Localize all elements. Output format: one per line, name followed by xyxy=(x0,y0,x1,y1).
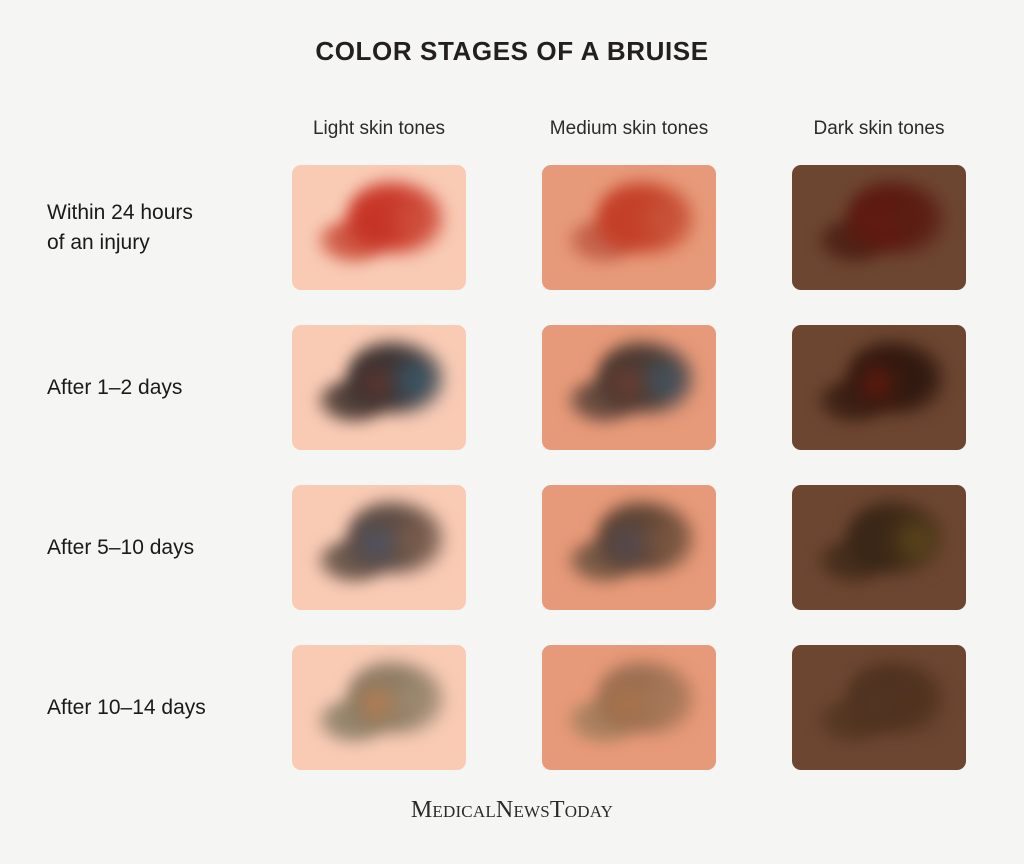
bruise-tile-medium xyxy=(542,325,716,450)
medical-news-today-logo: MedicalNewsToday xyxy=(411,797,613,824)
bruise-blob xyxy=(566,338,695,436)
row-label-after-10-14-days: After 10–14 days xyxy=(47,645,282,770)
bruise-tile-dark xyxy=(792,325,966,450)
stage-row: After 10–14 days xyxy=(0,645,1024,805)
infographic-root: COLOR STAGES OF A BRUISE Light skin tone… xyxy=(0,0,1024,864)
page-title: COLOR STAGES OF A BRUISE xyxy=(0,36,1024,67)
stage-row: After 5–10 days xyxy=(0,485,1024,645)
row-label-after-5-10-days: After 5–10 days xyxy=(47,485,282,610)
bruise-tile-medium xyxy=(542,645,716,770)
bruise-blob xyxy=(566,498,695,596)
bruise-tile-light xyxy=(292,325,466,450)
bruise-lobe xyxy=(855,207,899,240)
bruise-blob xyxy=(316,498,445,596)
row-label-line2: of an injury xyxy=(47,231,150,254)
row-label-within-24-hours: Within 24 hours of an injury xyxy=(47,165,282,290)
column-header-dark: Dark skin tones xyxy=(792,118,966,140)
bruise-tile-light xyxy=(292,485,466,610)
bruise-blob xyxy=(816,658,945,756)
bruise-lobe xyxy=(605,687,649,720)
column-header-medium: Medium skin tones xyxy=(542,118,716,140)
bruise-tile-dark xyxy=(792,165,966,290)
column-headers: Light skin tones Medium skin tones Dark … xyxy=(292,118,966,144)
bruise-lobe xyxy=(855,367,899,400)
footer: MedicalNewsToday xyxy=(0,797,1024,824)
row-label-line1: After 1–2 days xyxy=(47,373,182,403)
bruise-blob xyxy=(316,338,445,436)
bruise-blob xyxy=(316,658,445,756)
row-label-line1: Within 24 hours xyxy=(47,201,193,224)
bruise-tile-dark xyxy=(792,645,966,770)
bruise-blob xyxy=(816,178,945,276)
bruise-blob xyxy=(316,178,445,276)
bruise-lobe xyxy=(855,687,899,720)
bruise-tile-medium xyxy=(542,485,716,610)
bruise-lobe xyxy=(355,687,399,720)
stage-row: Within 24 hours of an injury xyxy=(0,165,1024,325)
stage-row: After 1–2 days xyxy=(0,325,1024,485)
bruise-tile-medium xyxy=(542,165,716,290)
bruise-tile-light xyxy=(292,645,466,770)
bruise-blob xyxy=(816,498,945,596)
bruise-tile-light xyxy=(292,165,466,290)
bruise-blob xyxy=(816,338,945,436)
bruise-lobe xyxy=(605,367,649,400)
bruise-lobe xyxy=(355,207,399,240)
row-label-line1: After 10–14 days xyxy=(47,693,206,723)
bruise-tile-dark xyxy=(792,485,966,610)
bruise-lobe xyxy=(355,527,399,560)
bruise-blob xyxy=(566,178,695,276)
bruise-lobe xyxy=(605,207,649,240)
column-header-light: Light skin tones xyxy=(292,118,466,140)
bruise-lobe xyxy=(605,527,649,560)
bruise-lobe xyxy=(855,527,899,560)
bruise-blob xyxy=(566,658,695,756)
row-label-after-1-2-days: After 1–2 days xyxy=(47,325,282,450)
stage-rows: Within 24 hours of an injury After 1–2 d… xyxy=(0,165,1024,805)
bruise-lobe xyxy=(355,367,399,400)
row-label-line1: After 5–10 days xyxy=(47,533,194,563)
